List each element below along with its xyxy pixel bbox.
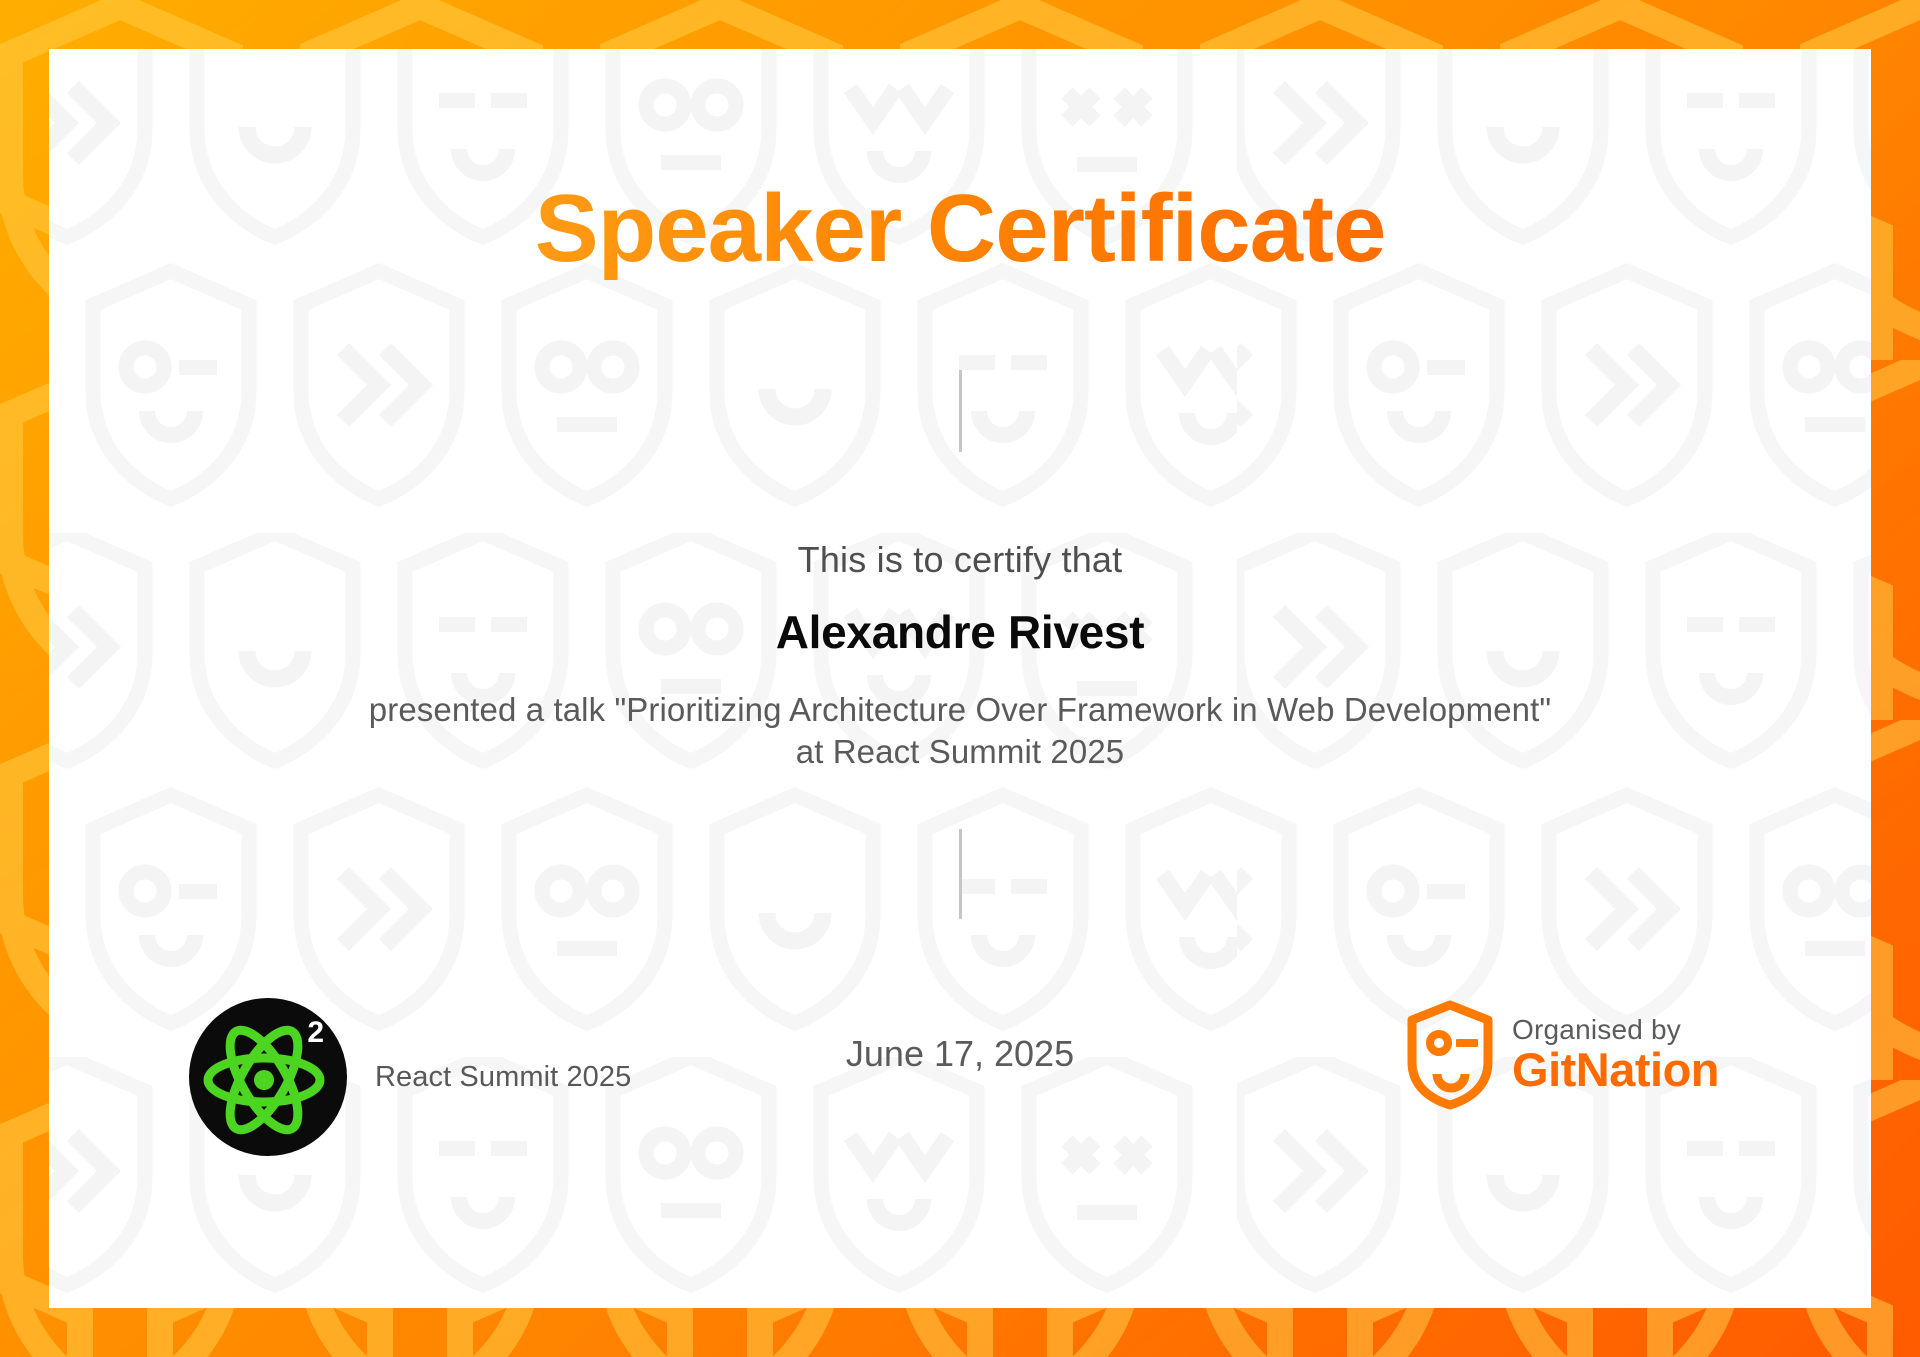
organiser-text: Organised by GitNation (1512, 1015, 1719, 1096)
divider-bottom (959, 829, 962, 919)
react-logo-superscript: 2 (307, 1018, 324, 1048)
event-branding: 2 React Summit 2025 (189, 998, 631, 1156)
organised-by-label: Organised by (1512, 1015, 1719, 1045)
talk-description: presented a talk "Prioritizing Architect… (369, 689, 1551, 773)
page-title: Speaker Certificate (535, 179, 1386, 280)
talk-title-line: presented a talk "Prioritizing Architect… (369, 689, 1551, 731)
certificate-footer: 2 React Summit 2025 June 17, 2025 Organi… (49, 978, 1871, 1308)
recipient-name: Alexandre Rivest (776, 605, 1144, 659)
gitnation-shield-icon (1406, 1000, 1494, 1110)
certify-line: This is to certify that (798, 539, 1123, 581)
organiser-name: GitNation (1512, 1045, 1719, 1096)
talk-event-line: at React Summit 2025 (369, 731, 1551, 773)
event-name-label: React Summit 2025 (375, 1061, 631, 1094)
certificate-date: June 17, 2025 (846, 1033, 1074, 1075)
divider-top (959, 370, 962, 452)
react-summit-logo-icon: 2 (189, 998, 347, 1156)
organiser-branding: Organised by GitNation (1406, 1000, 1719, 1110)
speaker-certificate: Speaker Certificate This is to certify t… (0, 0, 1920, 1357)
certificate-card: Speaker Certificate This is to certify t… (49, 49, 1871, 1308)
